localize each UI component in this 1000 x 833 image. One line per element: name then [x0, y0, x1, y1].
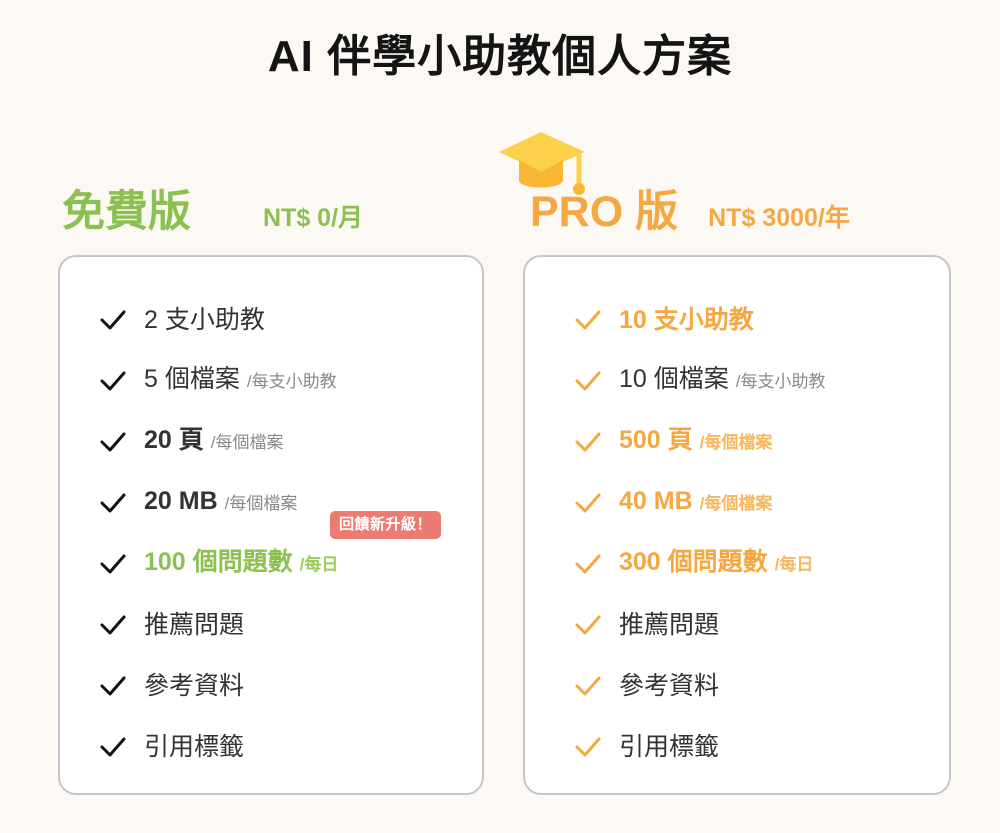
page-title: AI 伴學小助教個人方案	[0, 26, 1000, 88]
feature-label: 20 頁	[144, 425, 204, 455]
check-icon	[573, 549, 603, 579]
check-icon	[573, 427, 603, 457]
feature-label: 10 個檔案	[619, 364, 729, 394]
feature-label: 5 個檔案	[144, 364, 240, 394]
feature-row: 引用標籤	[525, 716, 949, 777]
check-icon	[573, 366, 603, 396]
feature-row: 推薦問題	[60, 594, 482, 655]
feature-label: 參考資料	[144, 671, 244, 701]
feature-sublabel: /每支小助教	[247, 367, 337, 397]
feature-label: 300 個問題數	[619, 547, 768, 577]
check-icon	[98, 610, 128, 640]
feature-sublabel: /每日	[775, 550, 814, 580]
check-icon	[573, 732, 603, 762]
feature-label: 推薦問題	[144, 610, 244, 640]
feature-label: 40 MB	[619, 486, 693, 516]
feature-sublabel: /每個檔案	[700, 489, 773, 519]
plan-price-free: NT$ 0/月	[263, 192, 363, 244]
check-icon	[98, 732, 128, 762]
feature-label: 2 支小助教	[144, 305, 265, 335]
feature-row: 20 頁/每個檔案	[60, 411, 482, 472]
status-badge: 回饋新升級！	[330, 511, 441, 539]
feature-label: 推薦問題	[619, 610, 719, 640]
feature-row: 500 頁/每個檔案	[525, 411, 949, 472]
feature-row: 引用標籤	[60, 716, 482, 777]
feature-row: 參考資料	[60, 655, 482, 716]
check-icon	[573, 610, 603, 640]
feature-sublabel: /每個檔案	[211, 428, 284, 458]
check-icon	[98, 488, 128, 518]
check-icon	[98, 305, 128, 335]
feature-row: 參考資料	[525, 655, 949, 716]
feature-row: 5 個檔案/每支小助教	[60, 350, 482, 411]
feature-label: 引用標籤	[144, 732, 244, 762]
check-icon	[573, 488, 603, 518]
plan-header-free: 免費版 NT$ 0/月	[62, 186, 363, 244]
feature-sublabel: /每日	[300, 550, 339, 580]
plan-price-pro: NT$ 3000/年	[708, 192, 850, 244]
feature-label: 10 支小助教	[619, 305, 754, 335]
plan-card-free: 2 支小助教 5 個檔案/每支小助教 20 頁/每個檔案 20 MB/每個檔案 …	[58, 255, 484, 795]
feature-label: 引用標籤	[619, 732, 719, 762]
feature-label: 參考資料	[619, 671, 719, 701]
feature-label: 500 頁	[619, 425, 693, 455]
pricing-page: AI 伴學小助教個人方案 免費版 NT$ 0/月 PRO 版 NT$ 3000/…	[0, 0, 1000, 833]
check-icon	[98, 549, 128, 579]
feature-row: 10 個檔案/每支小助教	[525, 350, 949, 411]
feature-sublabel: /每支小助教	[736, 367, 826, 397]
check-icon	[573, 305, 603, 335]
check-icon	[573, 671, 603, 701]
feature-list-pro: 10 支小助教 10 個檔案/每支小助教 500 頁/每個檔案 40 MB/每個…	[525, 289, 949, 777]
feature-sublabel: /每個檔案	[700, 428, 773, 458]
feature-list-free: 2 支小助教 5 個檔案/每支小助教 20 頁/每個檔案 20 MB/每個檔案 …	[60, 289, 482, 777]
check-icon	[98, 671, 128, 701]
plan-name-free: 免費版	[62, 186, 191, 238]
feature-row: 2 支小助教	[60, 289, 482, 350]
feature-row: 40 MB/每個檔案	[525, 472, 949, 533]
feature-row: 10 支小助教	[525, 289, 949, 350]
plan-name-pro: PRO 版	[530, 186, 678, 238]
plan-card-pro: 10 支小助教 10 個檔案/每支小助教 500 頁/每個檔案 40 MB/每個…	[523, 255, 951, 795]
feature-row: 推薦問題	[525, 594, 949, 655]
feature-label: 100 個問題數	[144, 547, 293, 577]
feature-row-highlight: 回饋新升級！ 100 個問題數/每日	[60, 533, 482, 594]
feature-label: 20 MB	[144, 486, 218, 516]
feature-sublabel: /每個檔案	[225, 489, 298, 519]
plan-header-pro: PRO 版 NT$ 3000/年	[530, 186, 850, 244]
check-icon	[98, 366, 128, 396]
check-icon	[98, 427, 128, 457]
feature-row: 300 個問題數/每日	[525, 533, 949, 594]
